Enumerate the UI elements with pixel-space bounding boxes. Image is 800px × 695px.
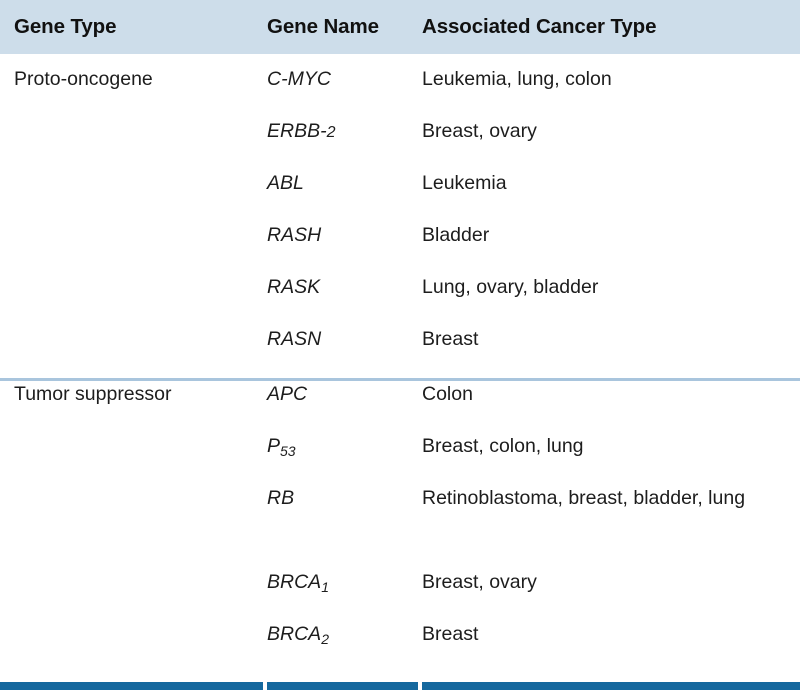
gene-name-text: RASK	[267, 276, 320, 298]
gene-name: ABL	[267, 170, 417, 202]
bottom-rule-segment	[267, 682, 418, 690]
gene-name-subscript: 1	[321, 579, 329, 595]
gene-name-text: RASH	[267, 224, 321, 246]
gene-name-text: P	[267, 435, 280, 457]
table-row: Proto-oncogene C-MYC Leukemia, lung, col…	[0, 54, 800, 106]
gene-name-text: BRCA	[267, 571, 321, 593]
column-header-gene-name: Gene Name	[267, 14, 379, 40]
gene-name-text: BRCA	[267, 623, 321, 645]
cancer-type: Colon	[422, 381, 790, 408]
cancer-type: Breast, ovary	[422, 118, 790, 145]
cancer-type: Leukemia, lung, colon	[422, 66, 790, 93]
cancer-type: Leukemia	[422, 170, 790, 197]
cancer-type: Breast, colon, lung	[422, 433, 790, 460]
table-row: RASH Bladder	[0, 210, 800, 262]
gene-name-text: APC	[267, 383, 307, 405]
gene-name: BRCA2	[267, 621, 417, 653]
gene-name-text: ABL	[267, 172, 304, 194]
group-label-proto-oncogene: Proto-oncogene	[14, 66, 264, 93]
gene-name: RASH	[267, 222, 417, 254]
table-row: RASK Lung, ovary, bladder	[0, 262, 800, 314]
column-header-gene-type: Gene Type	[14, 14, 116, 40]
table-row: RB Retinoblastoma, breast, bladder, lung	[0, 473, 800, 557]
gene-name-subscript: 2	[321, 631, 329, 647]
gene-name: RASK	[267, 274, 417, 306]
column-header-cancer-type: Associated Cancer Type	[422, 14, 656, 40]
table-row: BRCA2 Breast	[0, 609, 800, 661]
gene-name: RASN	[267, 326, 417, 358]
gene-name-subscript: 2	[327, 124, 336, 141]
table-body: Proto-oncogene C-MYC Leukemia, lung, col…	[0, 54, 800, 661]
gene-name-text: RASN	[267, 328, 321, 350]
table-row: ABL Leukemia	[0, 158, 800, 210]
group-label-tumor-suppressor: Tumor suppressor	[14, 381, 264, 408]
table-bottom-rule	[0, 682, 800, 690]
gene-name-text: C-MYC	[267, 68, 331, 90]
bottom-rule-segment	[422, 682, 800, 690]
gene-name: ERBB-2	[267, 118, 417, 146]
gene-cancer-table: Gene Type Gene Name Associated Cancer Ty…	[0, 0, 800, 695]
cancer-type: Bladder	[422, 222, 790, 249]
table-row: P53 Breast, colon, lung	[0, 421, 800, 473]
gene-name-text: RB	[267, 487, 294, 509]
table-header-row: Gene Type Gene Name Associated Cancer Ty…	[0, 0, 800, 54]
gene-name-text: ERBB-	[267, 120, 327, 142]
gene-name: APC	[267, 381, 417, 413]
table-row: Tumor suppressor APC Colon	[0, 369, 800, 421]
table-row: RASN Breast	[0, 314, 800, 366]
cancer-type: Retinoblastoma, breast, bladder, lung	[422, 485, 800, 512]
table-row: ERBB-2 Breast, ovary	[0, 106, 800, 158]
gene-name: BRCA1	[267, 569, 417, 601]
gene-name-subscript: 53	[280, 443, 296, 459]
gene-name: RB	[267, 485, 417, 517]
cancer-type: Breast, ovary	[422, 569, 790, 596]
cancer-type: Breast	[422, 326, 790, 353]
gene-name: P53	[267, 433, 417, 465]
cancer-type: Breast	[422, 621, 790, 648]
bottom-rule-segment	[0, 682, 263, 690]
cancer-type: Lung, ovary, bladder	[422, 274, 790, 301]
gene-name: C-MYC	[267, 66, 417, 98]
table-row: BRCA1 Breast, ovary	[0, 557, 800, 609]
